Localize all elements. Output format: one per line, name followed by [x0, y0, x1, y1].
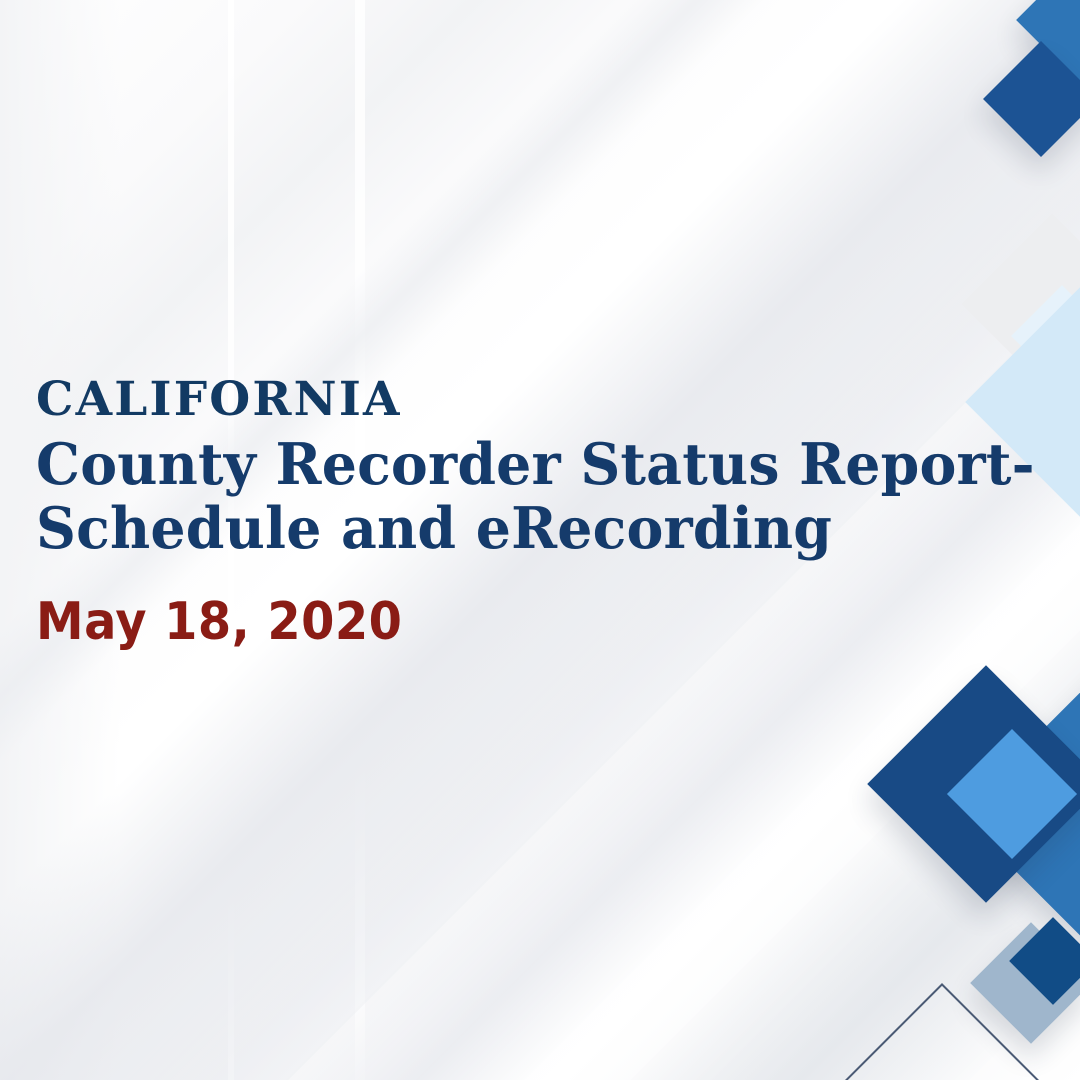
page-date: May 18, 2020 — [36, 596, 938, 648]
page-title-line-2: Schedule and eRecording — [36, 497, 987, 561]
title-text-block: CALIFORNIA County Recorder Status Report… — [36, 376, 1016, 648]
poster-canvas: CALIFORNIA County Recorder Status Report… — [0, 0, 1080, 1080]
page-title-line-1: County Recorder Status Report- — [36, 433, 987, 497]
page-eyebrow-state-name: CALIFORNIA — [36, 376, 1016, 423]
page-title: County Recorder Status Report- Schedule … — [36, 433, 987, 562]
